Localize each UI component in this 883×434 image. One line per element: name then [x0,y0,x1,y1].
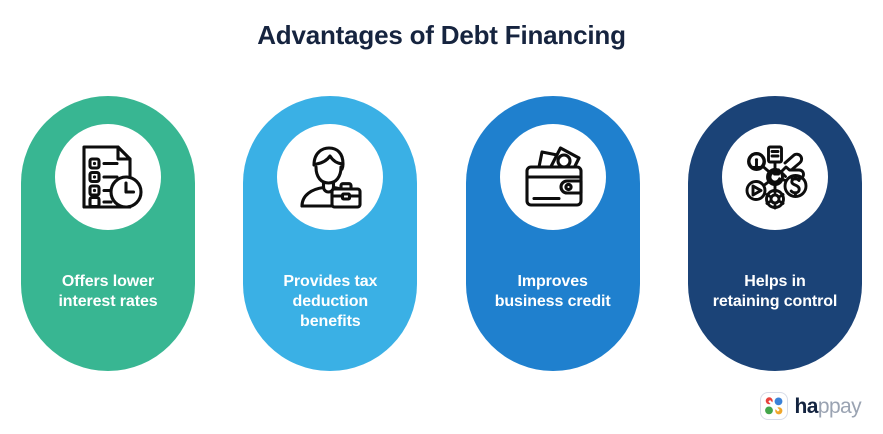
icon-circle [55,124,161,230]
page-title: Advantages of Debt Financing [0,20,883,51]
happay-wordmark: happay [795,396,861,417]
icon-circle [500,124,606,230]
advantage-card-offers-lower-interest-rates[interactable]: Offers lowerinterest rates [21,96,195,371]
advantage-card-label: Provides taxdeductionbenefits [248,272,413,332]
happay-wordmark-light: ppay [818,395,861,418]
infographic-root: Advantages of Debt Financing [0,0,883,434]
advantage-card-label: Helps inretaining control [692,272,857,312]
checklist-document-clock-icon [70,139,146,215]
icon-circle [722,124,828,230]
advantage-card-helps-in-retaining-control[interactable]: Helps inretaining control [688,96,862,371]
happay-wordmark-bold: ha [795,395,818,418]
wallet-cash-icon [515,139,591,215]
network-hub-hand-icon [737,139,813,215]
advantage-card-improves-business-credit[interactable]: Improvesbusiness credit [466,96,640,371]
advantage-card-label: Improvesbusiness credit [470,272,635,312]
happay-logo[interactable]: happay [760,392,861,420]
icon-circle [277,124,383,230]
happay-logo-mark [760,392,788,420]
businessman-briefcase-icon [292,139,368,215]
advantage-card-list: Offers lowerinterest rates [21,96,862,371]
advantage-card-provides-tax-deduction-benefits[interactable]: Provides taxdeductionbenefits [243,96,417,371]
advantage-card-label: Offers lowerinterest rates [26,272,191,312]
